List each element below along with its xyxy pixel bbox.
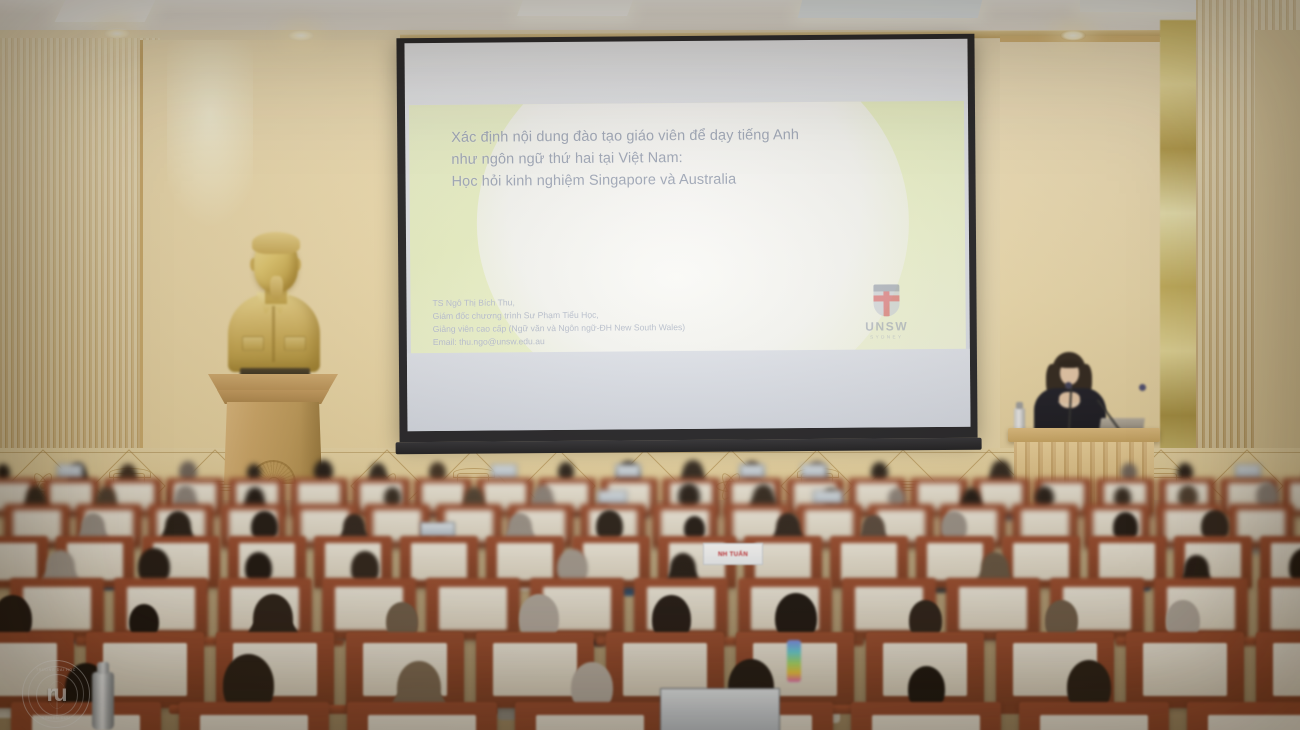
ceiling-light-panel [517,0,633,16]
audience-chair [114,578,208,640]
ceiling-light-panel [55,0,156,22]
audience-chair [1019,702,1169,730]
circular-photo-watermark: TRUONG DAI HOC ru NGHIEN CUU [22,660,90,728]
golden-bust-statue [226,232,322,382]
recessed-downlight [104,28,130,39]
audience-chair [179,702,329,730]
microphone-head-icon [1065,382,1072,389]
projection-screen: Xác định nội dung đào tạo giáo viên để d… [396,34,977,443]
audience-chair [1258,578,1300,640]
unsw-logo: UNSW SYDNEY [855,284,917,339]
unsw-sub-wordmark: SYDNEY [856,334,918,339]
audience-chair [1187,702,1300,730]
audience-chair [946,578,1040,640]
colorful-water-bottle [787,640,801,682]
unsw-shield-crest-icon [873,284,899,316]
audience-chair [426,578,520,640]
audience-chair [1256,632,1300,708]
slide-title: Xác định nội dung đào tạo giáo viên để d… [451,123,929,193]
pedestal-cap [208,374,338,392]
slatted-wall-panel-left [0,38,160,478]
lectern-top [1008,428,1160,442]
lecture-hall-photo: Xác định nội dung đào tạo giáo viên để d… [0,0,1300,730]
audience-chair [347,702,497,730]
watermark-monogram: ru [47,680,66,707]
slide-author-block: TS Ngô Thị Bích Thu, Giám đốc chương trì… [432,294,899,349]
recessed-downlight [288,30,314,41]
screen-blank-area [407,349,971,431]
audience-chair [851,702,1001,730]
steel-water-bottle [92,672,114,730]
bust-and-pedestal [208,232,338,482]
audience-seating [0,470,1300,730]
desk-name-card: NH TUẤN [703,543,763,565]
ceiling-light-panel [798,0,982,18]
pedestal-neck [217,390,329,404]
unsw-wordmark: UNSW [856,319,918,333]
recessed-downlight [1060,30,1086,41]
audience-chair [515,702,665,730]
microphone-head-icon [1139,384,1146,391]
watermark-top-text: TRUONG DAI HOC [23,668,89,672]
far-right-wall [1255,30,1300,490]
foreground-laptop [660,688,780,730]
screen-surface: Xác định nội dung đào tạo giáo viên để d… [404,39,970,431]
audience-chair [1126,632,1244,708]
watermark-bottom-text: NGHIEN CUU [23,716,89,720]
slide-title-line-3: Học hỏi kinh nghiệm Singapore và Austral… [451,167,928,193]
presentation-slide: Xác định nội dung đào tạo giáo viên để d… [409,101,966,361]
